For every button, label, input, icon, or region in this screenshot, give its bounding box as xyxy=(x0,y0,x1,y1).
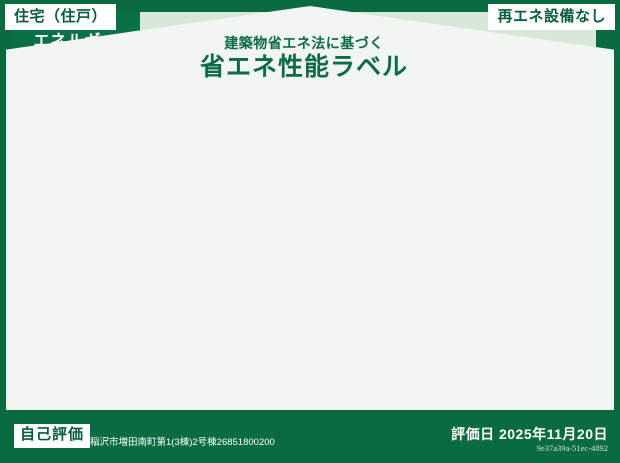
header-text-block: 建築物省エネ法に基づく 省エネ性能ラベル xyxy=(0,36,608,82)
header-subtitle: 建築物省エネ法に基づく xyxy=(0,36,608,51)
label-uid: 9e37a39a-51ec-4892 xyxy=(537,443,608,453)
energy-performance-label: 住宅（住戸） 再エネ設備なし 建築物省エネ法に基づく 省エネ性能ラベル エネルギ… xyxy=(0,0,620,463)
label-body-panel xyxy=(6,88,614,410)
badge-renewable-energy: 再エネ設備なし xyxy=(488,4,615,30)
badge-building-type: 住宅（住戸） xyxy=(5,4,116,30)
evaluation-date-value: 2025年11月20日 xyxy=(499,426,608,442)
self-evaluation-badge: 自己評価 xyxy=(14,424,90,448)
page-title: 省エネ性能ラベル xyxy=(0,52,608,82)
property-address: 稲沢市増田南町第1(3棟)2号棟26851800200 xyxy=(90,434,275,448)
evaluation-date-label: 評価日 xyxy=(451,426,495,442)
evaluation-date: 評価日 2025年11月20日 xyxy=(451,424,608,444)
footer: 自己評価 稲沢市増田南町第1(3棟)2号棟26851800200 評価日 202… xyxy=(0,412,620,463)
